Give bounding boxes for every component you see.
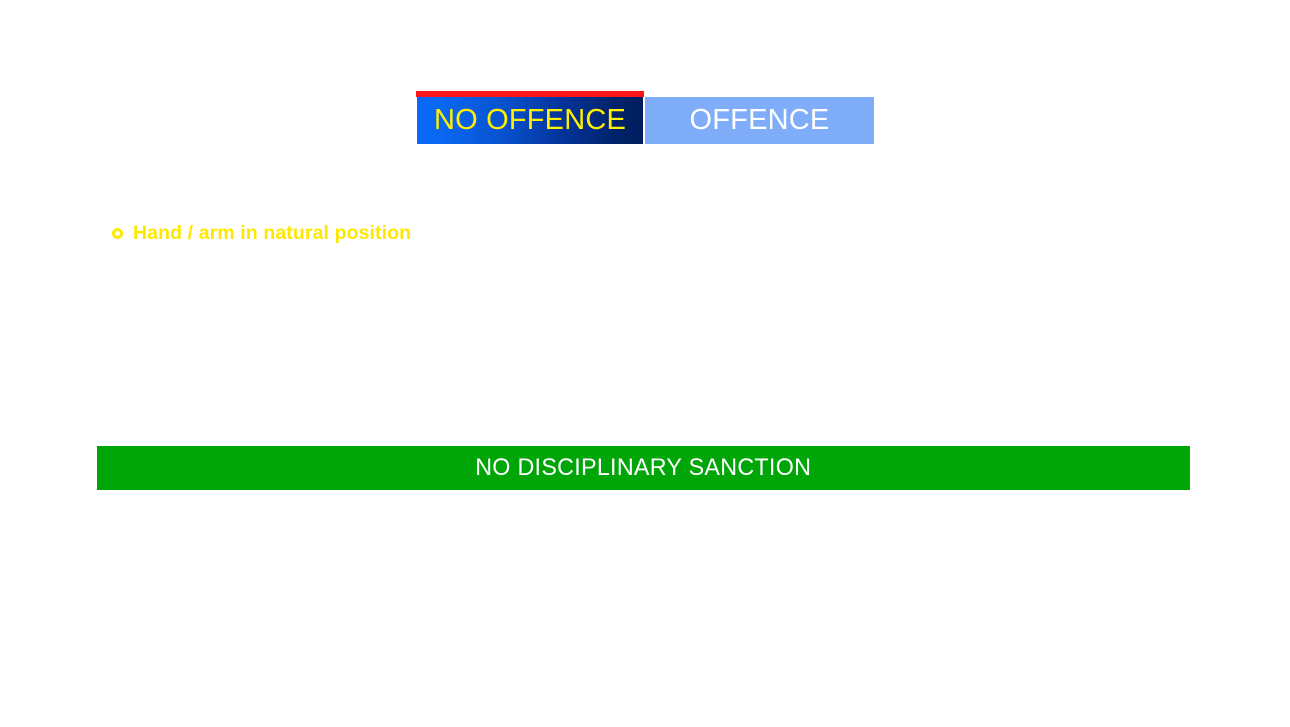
list-item: Hand / arm in natural position	[112, 219, 912, 247]
tab-offence-label: OFFENCE	[690, 106, 830, 135]
offence-decision-tabs: NO OFFENCE OFFENCE	[416, 91, 874, 144]
tab-no-offence-label: NO OFFENCE	[434, 106, 626, 135]
tab-offence[interactable]: OFFENCE	[645, 97, 874, 144]
slide-canvas: NO OFFENCE OFFENCE Hand / arm in natural…	[0, 0, 1290, 727]
bullet-circle-icon	[112, 228, 123, 239]
criteria-list: Hand / arm in natural position	[112, 219, 912, 247]
outcome-banner-label: NO DISCIPLINARY SANCTION	[475, 454, 811, 482]
tab-no-offence[interactable]: NO OFFENCE	[417, 97, 643, 144]
criteria-item-label: Hand / arm in natural position	[133, 222, 411, 245]
outcome-banner: NO DISCIPLINARY SANCTION	[97, 446, 1190, 490]
